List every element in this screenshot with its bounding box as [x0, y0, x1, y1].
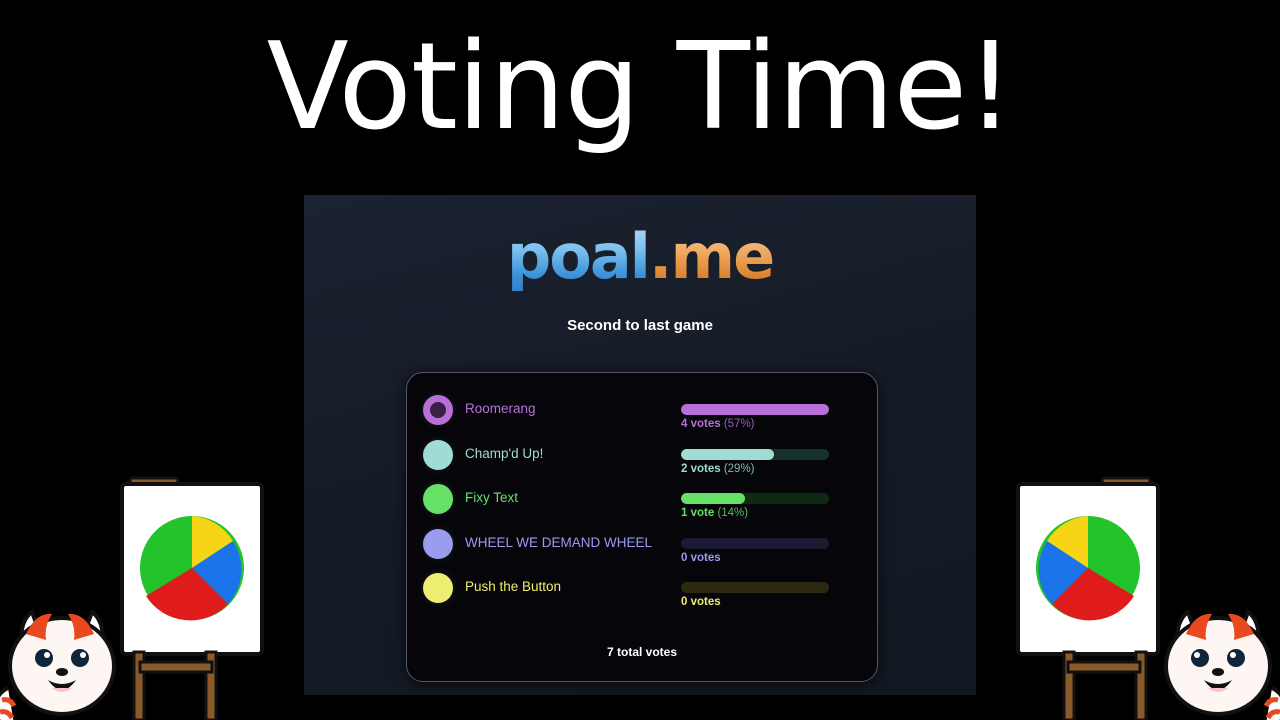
poll-option-votes: 2 votes (29%)	[681, 463, 829, 475]
poll-option-bar: 0 votes	[681, 538, 829, 564]
poll-question: Second to last game	[304, 317, 976, 334]
poll-option-bar: 0 votes	[681, 582, 829, 608]
mascot-cat-easel-left	[0, 456, 290, 720]
poll-option-bar: 4 votes (57%)	[681, 404, 829, 430]
poll-option-row[interactable]: Fixy Text1 vote (14%)	[423, 482, 861, 527]
bar-track	[681, 449, 829, 460]
bar-track	[681, 538, 829, 549]
poll-panel: poal.me Second to last game Roomerang4 v…	[304, 195, 976, 695]
bar-track	[681, 493, 829, 504]
poll-option-percent: (57%)	[724, 418, 755, 430]
poll-option-votes: 0 votes	[681, 552, 829, 564]
poll-options-list: Roomerang4 votes (57%)Champ'd Up!2 votes…	[407, 393, 877, 616]
cat-left	[0, 612, 114, 720]
pie-chart-right	[1036, 516, 1140, 620]
bar-fill	[681, 404, 829, 415]
mascot-cat-easel-right	[990, 456, 1280, 720]
poll-results-card: Roomerang4 votes (57%)Champ'd Up!2 votes…	[406, 372, 878, 682]
poll-option-label: Roomerang	[465, 401, 536, 416]
poll-option-votes: 0 votes	[681, 596, 829, 608]
radio-icon[interactable]	[423, 440, 453, 470]
logo-text-me: .me	[649, 220, 773, 293]
poll-option-row[interactable]: Champ'd Up!2 votes (29%)	[423, 438, 861, 483]
radio-icon[interactable]	[423, 529, 453, 559]
page-title: Voting Time!	[0, 28, 1280, 148]
pie-chart-left	[140, 516, 244, 620]
cat-right	[1166, 612, 1280, 720]
poll-option-votes: 1 vote (14%)	[681, 507, 829, 519]
poll-option-votes: 4 votes (57%)	[681, 418, 829, 430]
total-votes-label: 7 total votes	[407, 645, 877, 659]
poalme-logo: poal.me	[304, 220, 976, 293]
easel-left	[122, 478, 262, 720]
slide-canvas: Voting Time! poal.me Second to last game…	[0, 0, 1280, 720]
radio-icon[interactable]	[423, 573, 453, 603]
poll-option-percent: (29%)	[724, 463, 755, 475]
bar-track	[681, 404, 829, 415]
poll-option-label: Push the Button	[465, 579, 561, 594]
poll-option-label: Champ'd Up!	[465, 446, 543, 461]
bar-fill	[681, 449, 774, 460]
poll-option-bar: 1 vote (14%)	[681, 493, 829, 519]
poll-option-percent: (14%)	[717, 507, 748, 519]
bar-fill	[681, 493, 745, 504]
poll-option-row[interactable]: WHEEL WE DEMAND WHEEL0 votes	[423, 527, 861, 572]
logo-text-poal: poal	[507, 220, 649, 293]
easel-right	[1018, 478, 1158, 720]
bar-track	[681, 582, 829, 593]
poll-option-row[interactable]: Roomerang4 votes (57%)	[423, 393, 861, 438]
poll-option-row[interactable]: Push the Button0 votes	[423, 571, 861, 616]
poll-option-label: Fixy Text	[465, 490, 518, 505]
radio-icon[interactable]	[423, 484, 453, 514]
radio-selected-icon[interactable]	[423, 395, 453, 425]
poll-option-bar: 2 votes (29%)	[681, 449, 829, 475]
poll-option-label: WHEEL WE DEMAND WHEEL	[465, 535, 652, 550]
